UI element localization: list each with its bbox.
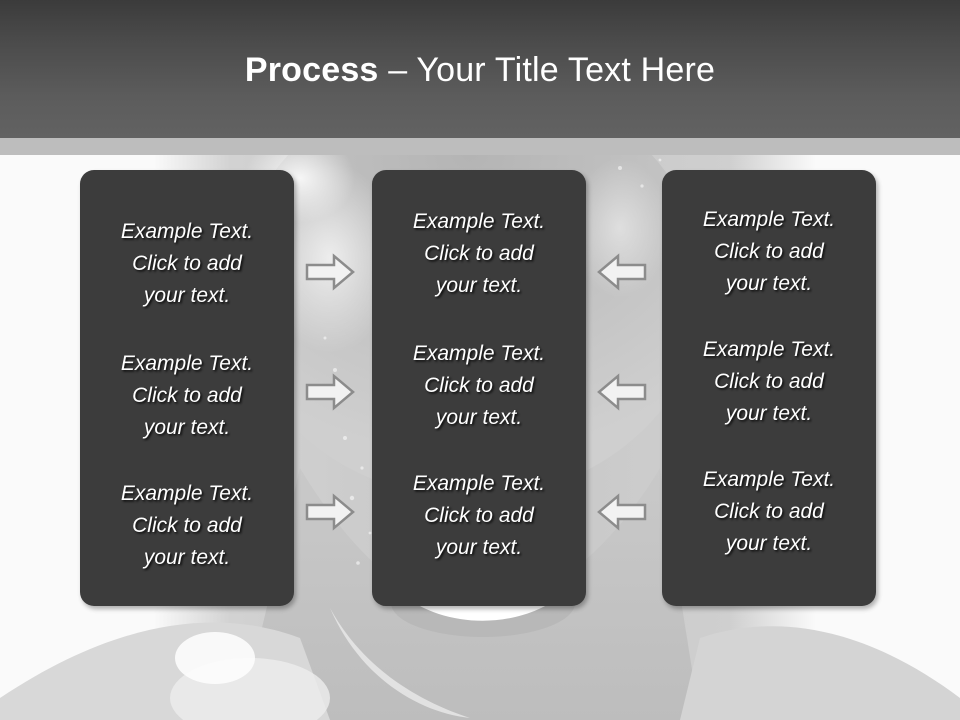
text-line: Example Text.	[670, 334, 868, 366]
text-line: Click to add	[380, 370, 578, 402]
text-line: your text.	[88, 412, 286, 444]
text-line: Click to add	[670, 366, 868, 398]
text-line: your text.	[380, 402, 578, 434]
arrow-left-icon[interactable]	[596, 493, 648, 531]
text-line: Example Text.	[670, 204, 868, 236]
text-line: Example Text.	[88, 478, 286, 510]
text-line: your text.	[380, 270, 578, 302]
text-line: your text.	[670, 398, 868, 430]
text-line: Example Text.	[88, 348, 286, 380]
arrow-right-icon[interactable]	[304, 373, 356, 411]
text-line: Example Text.	[670, 464, 868, 496]
process-column-3[interactable]: Example Text. Click to add your text. Ex…	[662, 170, 876, 606]
text-cell-c1-r1[interactable]: Example Text. Click to add your text.	[88, 216, 286, 312]
process-column-1[interactable]: Example Text. Click to add your text. Ex…	[80, 170, 294, 606]
text-cell-c2-r2[interactable]: Example Text. Click to add your text.	[380, 338, 578, 434]
text-line: Click to add	[670, 236, 868, 268]
slide-canvas: Process – Your Title Text Here Example T…	[0, 0, 960, 720]
process-column-2[interactable]: Example Text. Click to add your text. Ex…	[372, 170, 586, 606]
arrow-right-icon[interactable]	[304, 493, 356, 531]
text-cell-c3-r2[interactable]: Example Text. Click to add your text.	[670, 334, 868, 430]
text-line: Click to add	[380, 238, 578, 270]
text-line: your text.	[88, 542, 286, 574]
text-line: Click to add	[88, 248, 286, 280]
text-line: Example Text.	[380, 468, 578, 500]
text-cell-c2-r1[interactable]: Example Text. Click to add your text.	[380, 206, 578, 302]
text-cell-c1-r2[interactable]: Example Text. Click to add your text.	[88, 348, 286, 444]
text-line: your text.	[88, 280, 286, 312]
text-line: your text.	[670, 268, 868, 300]
arrow-right-icon[interactable]	[304, 253, 356, 291]
text-cell-c3-r1[interactable]: Example Text. Click to add your text.	[670, 204, 868, 300]
text-line: Click to add	[670, 496, 868, 528]
text-line: your text.	[670, 528, 868, 560]
process-diagram: Example Text. Click to add your text. Ex…	[0, 0, 960, 720]
text-line: Example Text.	[380, 338, 578, 370]
text-cell-c3-r3[interactable]: Example Text. Click to add your text.	[670, 464, 868, 560]
text-line: Click to add	[88, 510, 286, 542]
arrow-left-icon[interactable]	[596, 373, 648, 411]
text-line: Example Text.	[380, 206, 578, 238]
text-line: your text.	[380, 532, 578, 564]
text-cell-c2-r3[interactable]: Example Text. Click to add your text.	[380, 468, 578, 564]
text-line: Example Text.	[88, 216, 286, 248]
arrow-left-icon[interactable]	[596, 253, 648, 291]
text-cell-c1-r3[interactable]: Example Text. Click to add your text.	[88, 478, 286, 574]
text-line: Click to add	[380, 500, 578, 532]
text-line: Click to add	[88, 380, 286, 412]
